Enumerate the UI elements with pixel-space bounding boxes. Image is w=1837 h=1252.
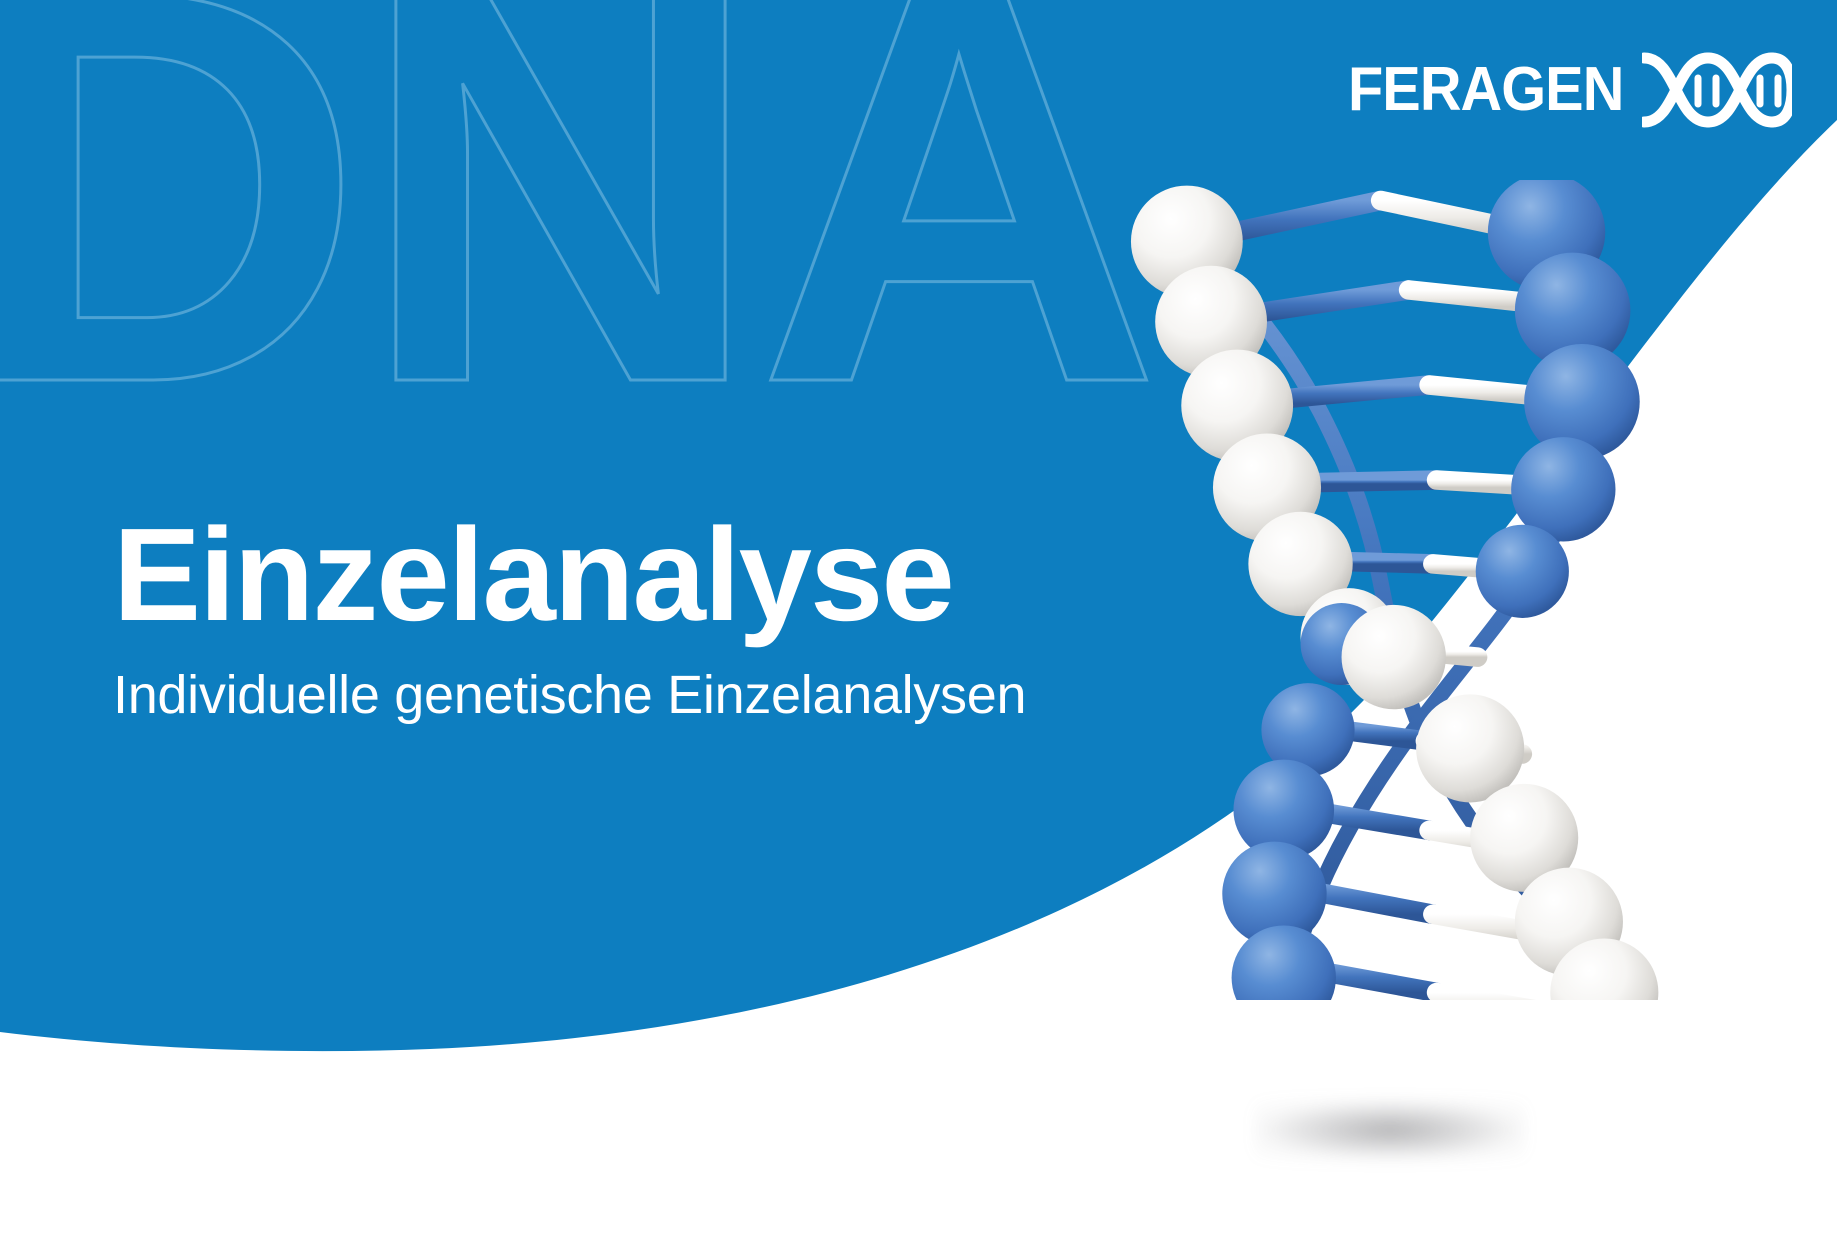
dna-analysis-banner: DNA FERAGEN Einzelanalyse [0,0,1837,1252]
page-subtitle: Individuelle genetische Einzelanalysen [113,660,1163,730]
logo-wordmark: FERAGEN [1348,59,1623,121]
headline-block: Einzelanalyse Individuelle genetische Ei… [113,500,1163,730]
page-title: Einzelanalyse [113,500,1163,650]
dna-helix-logo-icon [1642,52,1792,128]
feragen-logo[interactable]: FERAGEN [1348,52,1792,128]
